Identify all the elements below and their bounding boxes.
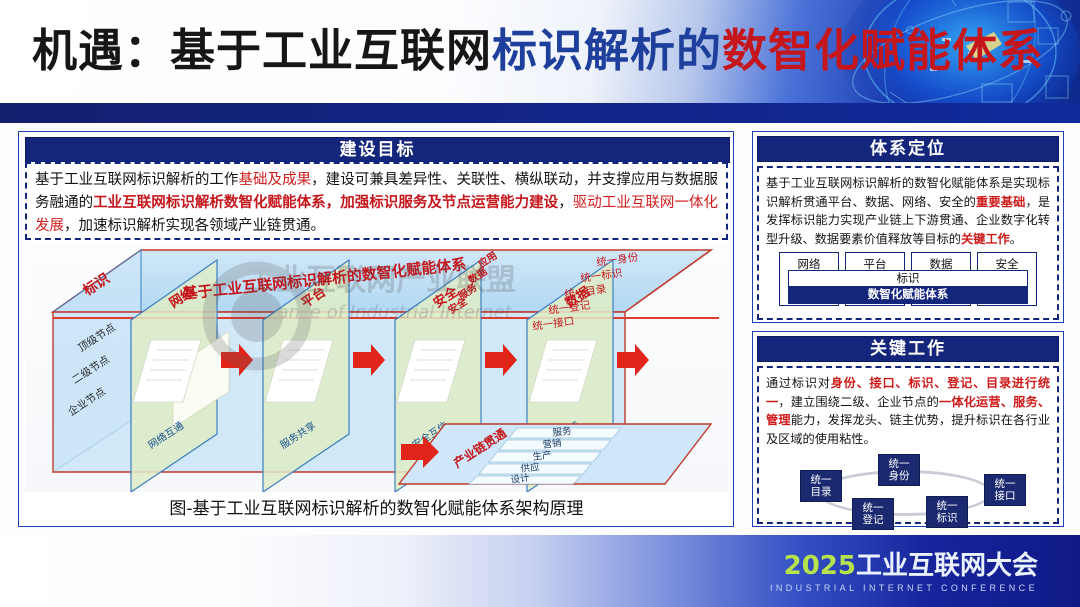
circle-node-registration: 统一 登记 <box>852 498 894 530</box>
kw-seg-3: ，建立围绕二级、企业节点的 <box>778 395 939 409</box>
title-part-blue: 标识解析的 <box>492 24 722 77</box>
stack-overlay: 标识 数智化赋能体系 <box>788 270 1028 304</box>
conference-year: 2025 <box>784 551 856 581</box>
goal-seg-4: 工业互联网标识解析数智化赋能体系，加强标识服务及节点运营能力建设 <box>93 195 558 211</box>
circle-node-identity-line2: 身份 <box>881 470 917 482</box>
circle-node-identifier: 统一 标识 <box>926 496 968 528</box>
pos-seg-4: 关键工作 <box>961 232 1010 246</box>
slide-body: 建设目标 基于工业互联网标识解析的工作基础及成果，建设可兼具差异性、关联性、横纵… <box>0 123 1080 535</box>
overlay-enabling-system: 数智化赋能体系 <box>788 287 1028 304</box>
svg-text:Alliance of Industrial Interne: Alliance of Industrial Internet <box>249 302 512 323</box>
system-position-text: 基于工业互联网标识解析的数智化赋能体系是实现标识解析贯通平台、数据、网络、安全的… <box>766 174 1050 248</box>
goal-seg-1: 基于工业互联网标识解析的工作 <box>35 172 238 188</box>
architecture-diagram: 标识 顶级节点 二级节点 企业节点 网络 网络互通 平台 服务共享 <box>25 244 728 492</box>
goal-card-body: 基于工业互联网标识解析的工作基础及成果，建设可兼具差异性、关联性、横纵联动，并支… <box>25 162 728 240</box>
construction-goal-card: 建设目标 基于工业互联网标识解析的工作基础及成果，建设可兼具差异性、关联性、横纵… <box>18 131 734 527</box>
goal-text: 基于工业互联网标识解析的工作基础及成果，建设可兼具差异性、关联性、横纵联动，并支… <box>35 169 718 238</box>
goal-seg-5: ， <box>558 195 573 211</box>
kw-seg-1: 通过标识对 <box>766 376 831 390</box>
circle-node-identity-line1: 统一 <box>881 458 917 470</box>
kw-seg-5: 能力，发挥龙头、链主优势，提升标识在各行业及区域的使用粘性。 <box>766 413 1050 446</box>
circle-node-identifier-line2: 标识 <box>929 512 965 524</box>
system-position-header: 体系定位 <box>757 136 1059 162</box>
circle-node-interface: 统一 接口 <box>984 474 1026 506</box>
unify-circle-diagram: 统一 身份 统一 接口 统一 标识 统一 登记 <box>766 454 1050 528</box>
circle-node-registration-line2: 登记 <box>855 514 891 526</box>
goal-seg-2: 基础及成果 <box>238 172 311 188</box>
key-work-body: 通过标识对身份、接口、标识、登记、目录进行统一，建立围绕二级、企业节点的一体化运… <box>757 366 1059 524</box>
conference-logo-main: 2025工业互联网大会 <box>770 551 1038 581</box>
circle-node-interface-line2: 接口 <box>987 490 1023 502</box>
diagram-caption: 图-基于工业互联网标识解析的数智化赋能体系架构原理 <box>25 494 728 519</box>
goal-card-header: 建设目标 <box>25 137 730 163</box>
right-column: 体系定位 基于工业互联网标识解析的数智化赋能体系是实现标识解析贯通平台、数据、网… <box>752 131 1064 527</box>
title-part-black: 机遇：基于工业互联网 <box>32 24 492 77</box>
slide-header: 机遇：基于工业互联网标识解析的数智化赋能体系 <box>0 0 1080 103</box>
overlay-identifier: 标识 <box>788 270 1028 287</box>
key-work-card: 关键工作 通过标识对身份、接口、标识、登记、目录进行统一，建立围绕二级、企业节点… <box>752 331 1064 527</box>
title-part-red: 数智化赋能体系 <box>722 24 1044 77</box>
conference-name-cn: 工业互联网大会 <box>856 551 1038 581</box>
architecture-diagram-svg: 标识 顶级节点 二级节点 企业节点 网络 网络互通 平台 服务共享 <box>25 244 728 492</box>
system-stack-diagram: 网络 平台 数据 安全 标识 数智化赋能体系 <box>766 252 1050 312</box>
circle-node-identifier-line1: 统一 <box>929 500 965 512</box>
circle-node-identity: 统一 身份 <box>878 454 920 486</box>
pos-seg-5: 。 <box>1010 232 1022 246</box>
goal-seg-7: ，加速标识解析实现各领域产业链贯通。 <box>64 218 325 234</box>
circle-node-directory: 统一 目录 <box>800 470 842 502</box>
circle-node-interface-line1: 统一 <box>987 478 1023 490</box>
key-work-text: 通过标识对身份、接口、标识、登记、目录进行统一，建立围绕二级、企业节点的一体化运… <box>766 374 1050 448</box>
svg-text:营销: 营销 <box>542 437 563 451</box>
header-accent-bar <box>0 103 1080 123</box>
circle-node-directory-line2: 目录 <box>803 486 839 498</box>
conference-name-en: INDUSTRIAL INTERNET CONFERENCE <box>770 583 1038 593</box>
pos-seg-2: 重要基础 <box>976 195 1025 209</box>
system-position-card: 体系定位 基于工业互联网标识解析的数智化赋能体系是实现标识解析贯通平台、数据、网… <box>752 131 1064 323</box>
system-position-body: 基于工业互联网标识解析的数智化赋能体系是实现标识解析贯通平台、数据、网络、安全的… <box>757 166 1059 320</box>
slide-root: 机遇：基于工业互联网标识解析的数智化赋能体系 建设目标 基于工业互联网标识解析的… <box>0 0 1080 607</box>
page-title: 机遇：基于工业互联网标识解析的数智化赋能体系 <box>32 22 1044 80</box>
circle-node-registration-line1: 统一 <box>855 502 891 514</box>
circle-node-directory-line1: 统一 <box>803 474 839 486</box>
svg-text:工业互联网产业联盟: 工业互联网产业联盟 <box>246 263 516 298</box>
slide-footer: 2025工业互联网大会 INDUSTRIAL INTERNET CONFEREN… <box>0 535 1080 607</box>
svg-text:设计: 设计 <box>510 472 531 486</box>
key-work-header: 关键工作 <box>757 336 1059 362</box>
conference-logo: 2025工业互联网大会 INDUSTRIAL INTERNET CONFEREN… <box>770 551 1038 593</box>
svg-text:生产: 生产 <box>532 449 552 463</box>
svg-text:服务: 服务 <box>552 425 573 439</box>
